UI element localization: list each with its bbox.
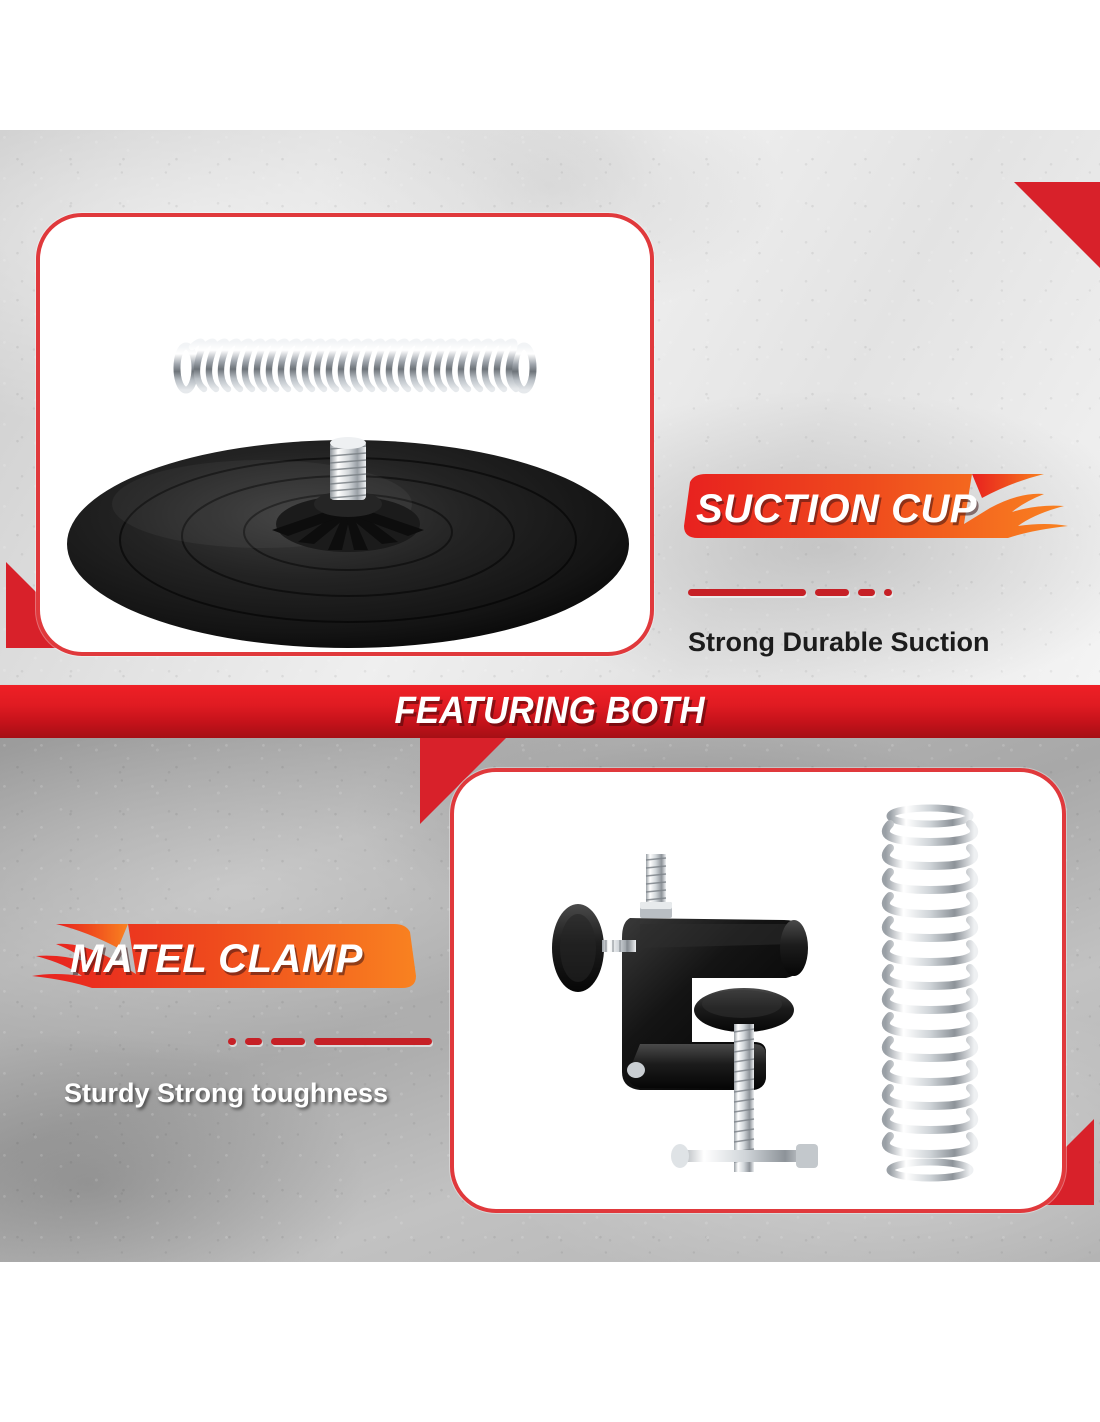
divider-dash bbox=[228, 1038, 236, 1045]
matel-clamp-heading-label: MATEL CLAMP bbox=[70, 918, 363, 1000]
clamp-product-card bbox=[450, 768, 1066, 1213]
divider-dash bbox=[314, 1038, 432, 1045]
suction-cup-disc-icon bbox=[62, 412, 634, 652]
threaded-bolt-icon bbox=[330, 437, 366, 500]
divider-dash bbox=[688, 589, 806, 596]
featuring-both-banner: FEATURING BOTH bbox=[0, 685, 1100, 738]
divider-dash bbox=[858, 589, 875, 596]
suction-cup-heading-banner: SUCTION CUP bbox=[672, 468, 1092, 550]
divider-dash bbox=[245, 1038, 262, 1045]
matel-clamp-section: MATEL CLAMP Sturdy Strong toughness bbox=[0, 738, 1100, 1262]
suction-cup-subtitle: Strong Durable Suction bbox=[688, 627, 990, 658]
divider-dash bbox=[884, 589, 892, 596]
divider-dash bbox=[271, 1038, 305, 1045]
top-bolt-icon bbox=[640, 854, 672, 918]
suction-cup-section: SUCTION CUP Strong Durable Suction bbox=[0, 130, 1100, 685]
corner-wedge-top-right bbox=[1014, 182, 1100, 268]
suction-cup-divider bbox=[688, 588, 892, 596]
matel-clamp-divider bbox=[228, 1037, 432, 1045]
compression-spring-icon bbox=[886, 808, 974, 1178]
matel-clamp-heading-banner: MATEL CLAMP bbox=[8, 918, 428, 1000]
clamp-screw-icon bbox=[734, 1024, 754, 1172]
featuring-both-label: FEATURING BOTH bbox=[395, 690, 705, 733]
divider-dash bbox=[815, 589, 849, 596]
matel-clamp-subtitle: Sturdy Strong toughness bbox=[64, 1078, 388, 1109]
suction-cup-heading-label: SUCTION CUP bbox=[696, 468, 977, 550]
suction-cup-product-card bbox=[36, 213, 654, 656]
desk-clamp-icon bbox=[454, 772, 1054, 1202]
compression-spring-icon bbox=[170, 337, 540, 399]
